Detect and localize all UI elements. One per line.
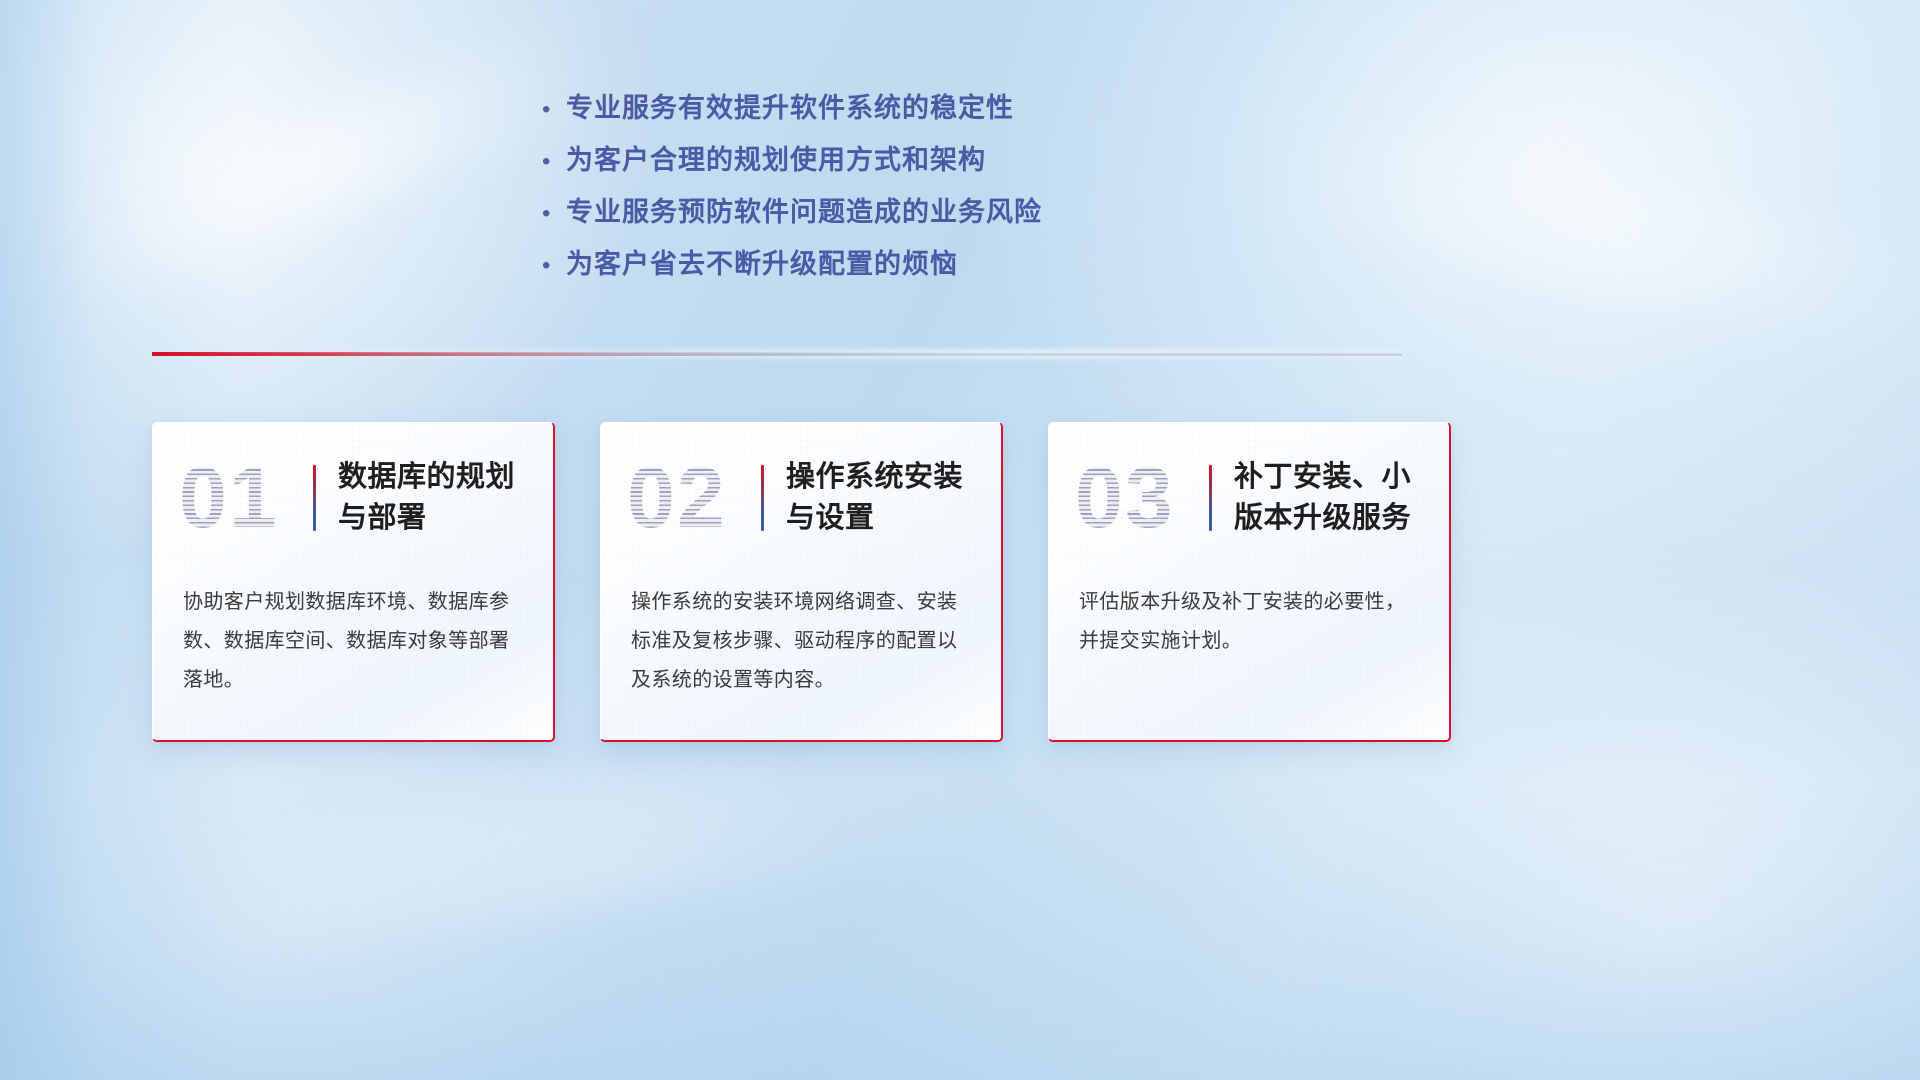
card-accent-rule <box>761 465 764 531</box>
bullet-text: 为客户省去不断升级配置的烦恼 <box>566 242 958 281</box>
background-haze-bottom <box>0 780 1920 1080</box>
card-description: 协助客户规划数据库环境、数据库参数、数据库空间、数据库对象等部署落地。 <box>153 573 553 700</box>
slide-canvas: • 专业服务有效提升软件系统的稳定性 • 为客户合理的规划使用方式和架构 • 专… <box>0 0 1920 1080</box>
background-light-streak <box>1276 111 1920 360</box>
card-header: 03 03 补丁安装、小 版本升级服务 <box>1049 423 1449 573</box>
card-title: 补丁安装、小 版本升级服务 <box>1234 457 1411 539</box>
card-accent-rule <box>1209 465 1212 531</box>
bullet-text: 专业服务有效提升软件系统的稳定性 <box>566 86 1014 125</box>
bullet-text: 专业服务预防软件问题造成的业务风险 <box>566 190 1042 229</box>
card-accent-rule <box>313 465 316 531</box>
divider-shine <box>152 349 1402 359</box>
service-card-group: 01 01 数据库的规划 与部署 协助客户规划数据库环境、数据库参数、数据库空间… <box>152 422 1452 742</box>
bullet-dot-icon: • <box>536 150 566 174</box>
list-item: • 为客户合理的规划使用方式和架构 <box>536 138 1296 190</box>
section-divider <box>152 349 1402 361</box>
bullet-dot-icon: • <box>536 254 566 278</box>
card-header: 01 01 数据库的规划 与部署 <box>153 423 553 573</box>
benefit-bullet-list: • 专业服务有效提升软件系统的稳定性 • 为客户合理的规划使用方式和架构 • 专… <box>536 86 1296 294</box>
card-title: 数据库的规划 与部署 <box>338 457 515 539</box>
service-card[interactable]: 03 03 补丁安装、小 版本升级服务 评估版本升级及补丁安装的必要性，并提交实… <box>1048 422 1451 742</box>
bullet-text: 为客户合理的规划使用方式和架构 <box>566 138 986 177</box>
background-light-streak <box>60 34 579 296</box>
background-light-streak <box>235 728 1004 953</box>
card-title: 操作系统安装 与设置 <box>786 457 963 539</box>
service-card[interactable]: 02 02 操作系统安装 与设置 操作系统的安装环境网络调查、安装标准及复核步骤… <box>600 422 1003 742</box>
card-number-watermark: 02 <box>627 446 755 550</box>
list-item: • 为客户省去不断升级配置的烦恼 <box>536 242 1296 294</box>
bullet-dot-icon: • <box>536 98 566 122</box>
card-number-watermark: 01 <box>179 446 307 550</box>
list-item: • 专业服务预防软件问题造成的业务风险 <box>536 190 1296 242</box>
card-number-watermark: 03 <box>1075 446 1203 550</box>
card-description: 评估版本升级及补丁安装的必要性，并提交实施计划。 <box>1049 573 1449 661</box>
list-item: • 专业服务有效提升软件系统的稳定性 <box>536 86 1296 138</box>
service-card[interactable]: 01 01 数据库的规划 与部署 协助客户规划数据库环境、数据库参数、数据库空间… <box>152 422 555 742</box>
card-header: 02 02 操作系统安装 与设置 <box>601 423 1001 573</box>
card-description: 操作系统的安装环境网络调查、安装标准及复核步骤、驱动程序的配置以及系统的设置等内… <box>601 573 1001 700</box>
bullet-dot-icon: • <box>536 202 566 226</box>
